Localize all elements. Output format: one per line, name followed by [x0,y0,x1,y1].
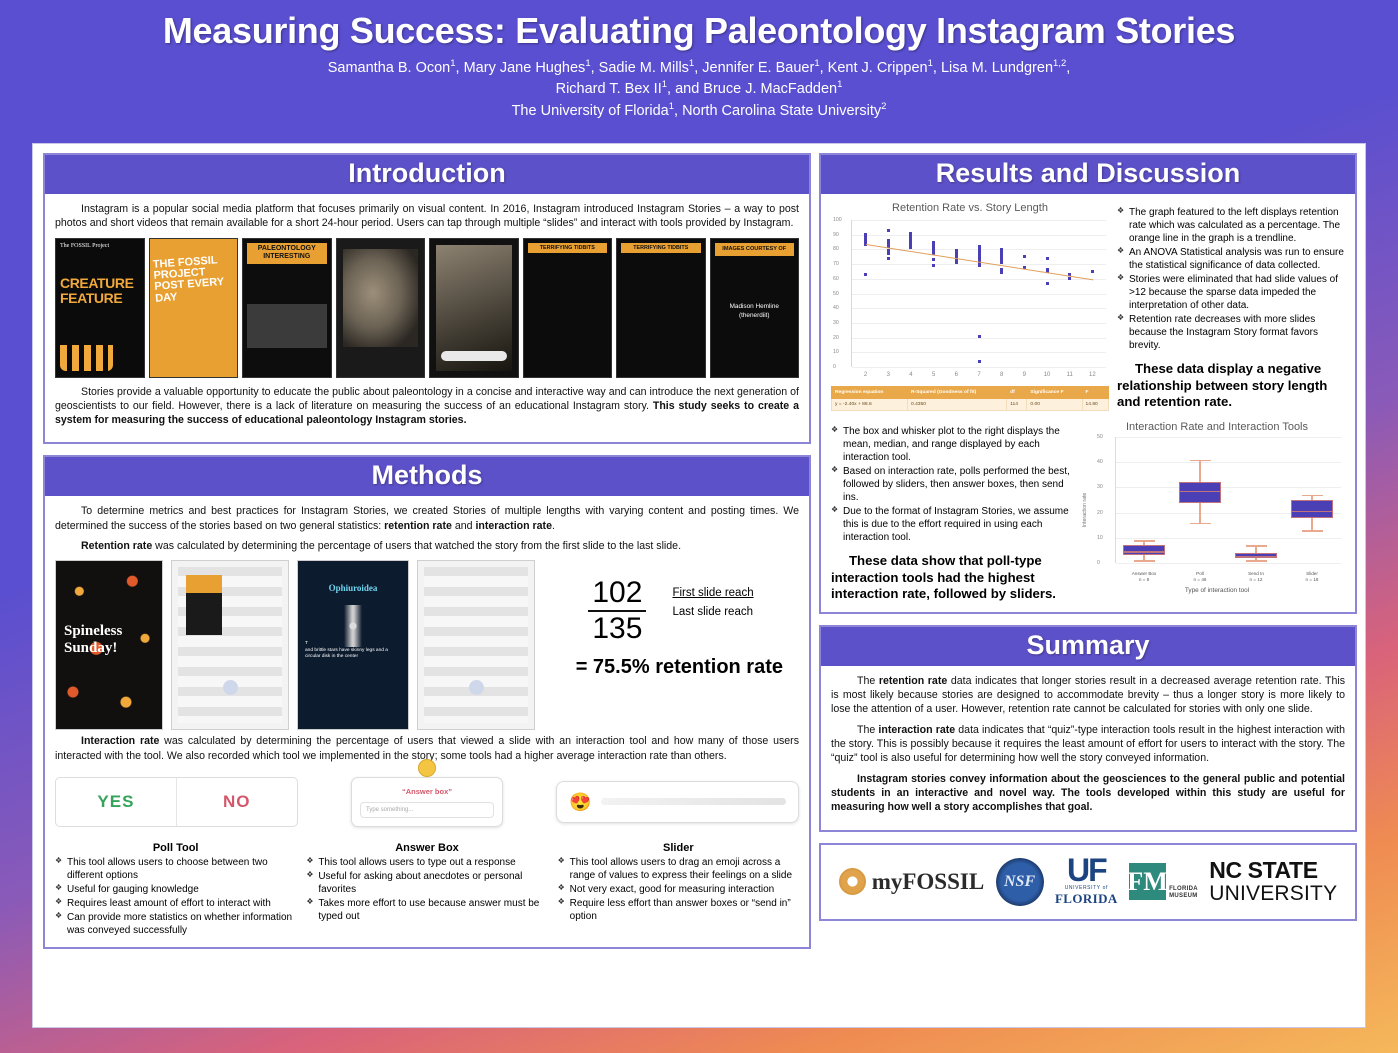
answer-box-bullets: This tool allows users to type out a res… [306,856,547,923]
introduction-panel: Introduction Instagram is a popular soci… [43,153,811,444]
whisker-cap-lower [1190,523,1211,524]
x-axis-tick: 5 [932,372,935,378]
list-item: Useful for gauging knowledge [55,883,296,896]
x-axis-tick: 10 [1044,372,1051,378]
slider-column: Slider This tool allows users to drag an… [558,842,799,938]
insights-screenshot-1 [171,560,289,730]
myfossil-logo: myFOSSIL [839,868,984,895]
list-item: Not very exact, good for measuring inter… [558,883,799,896]
nsf-seal-icon: NSF [996,858,1044,906]
story-card-image-credit: IMAGES COURTESY OF Madison Hemline (then… [710,238,800,378]
box-rect [1235,553,1277,558]
card-header-banner: PALEONTOLOGY INTERESTING [247,243,327,265]
x-axis-tick: 3 [887,372,890,378]
poll-tool-title: Poll Tool [55,842,296,854]
slider-widget[interactable]: 😍 [556,781,799,823]
scatter-point [978,264,981,267]
methods-p1-retention: retention rate [384,520,452,532]
page-title: Measuring Success: Evaluating Paleontolo… [0,10,1398,52]
list-item: Can provide more statistics on whether i… [55,911,296,937]
summary-p1-bold: retention rate [879,675,947,687]
boxplot-category-label: Send Inn = 12 [1248,571,1264,583]
anova-table-row: y = -2.40x + 88.60.43501140.0014.80 [832,399,1109,411]
summary-panel: Summary The retention rate data indicate… [819,625,1357,832]
summary-paragraph-2: The interaction rate data indicates that… [831,723,1345,766]
spineless-sunday-text: SpinelessSunday! [64,623,122,657]
y-axis-tick: 40 [1097,459,1103,465]
list-item: The graph featured to the left displays … [1117,206,1345,245]
anova-header-cell: F [1082,387,1108,399]
anova-table: Regression equationR-Squared (Goodness o… [831,386,1109,411]
gridline [1116,563,1341,564]
scatter-point [864,273,867,276]
boxplot-box: Polln = 46 [1179,437,1221,563]
gridline [852,338,1106,339]
scatter-point [887,229,890,232]
scatter-point [887,257,890,260]
boxplot-chart: Interaction rate 01020304050Answer Boxn … [1089,435,1345,585]
creature-line-2: FEATURE [60,291,140,306]
whisker-cap-upper [1302,495,1323,496]
slider-bullets: This tool allows users to drag an emoji … [558,856,799,923]
boxplot-box: Answer Boxn = 8 [1123,437,1165,563]
drip-decoration [60,345,113,371]
answer-box-title: Answer Box [306,842,547,854]
boxplot-chart-container: Interaction Rate and Interaction Tools I… [1089,421,1345,603]
animal-photo [343,249,419,347]
list-item: Useful for asking about anecdotes or per… [306,870,547,896]
results-bottom-row: The box and whisker plot to the right di… [831,421,1345,603]
whisker-cap-lower [1302,530,1323,531]
florida-museum-mark-icon: FM [1129,863,1166,900]
x-axis-tick: 11 [1067,372,1073,378]
boxplot-chart-title: Interaction Rate and Interaction Tools [1089,421,1345,433]
anova-cell: y = -2.40x + 88.6 [832,399,908,411]
methods-panel: Methods To determine metrics and best pr… [43,455,811,948]
anova-header-cell: R-Squared (Goodness of fit) [908,387,1007,399]
poll-tool-demo: YES NO [55,771,298,833]
courtesy-banner: IMAGES COURTESY OF [715,243,795,256]
right-column: Results and Discussion Retention Rate vs… [819,153,1357,921]
gridline [852,367,1106,368]
list-item: An ANOVA Statistical analysis was run to… [1117,246,1345,272]
scatter-point [932,258,935,261]
poll-option-yes[interactable]: YES [56,778,177,826]
profile-avatar-icon [418,759,436,777]
y-axis-tick: 30 [1097,484,1103,490]
credit-name: Madison Hemline [715,302,795,312]
scatter-point [1000,271,1003,274]
poll-widget[interactable]: YES NO [55,777,298,827]
summary-paragraph-3: Instagram stories convey information abo… [831,772,1345,815]
gridline [852,235,1106,236]
whisker-cap-upper [1190,460,1211,461]
credit-handle: (thenerdiit) [715,311,795,321]
ncstate-line-2: UNIVERSITY [1209,883,1337,904]
credit-block: Madison Hemline (thenerdiit) [715,302,795,321]
uf-florida-text: FLORIDA [1055,891,1118,907]
summary-body: The retention rate data indicates that l… [821,666,1355,830]
first-slide-reach-label: First slide reach [672,584,753,603]
instagram-story-examples: The FOSSIL Project CREATURE FEATURE THE … [55,238,799,378]
scatter-point [909,246,912,249]
anova-cell: 14.80 [1082,399,1108,411]
scatter-point [1023,255,1026,258]
boxplot-category-label: Polln = 46 [1194,571,1207,583]
methods-p1-e: . [552,520,555,532]
box-rect [1291,500,1333,518]
fm-line-1: FLORIDA [1169,886,1198,893]
myfossil-ammonite-icon [839,868,866,895]
story-card-orange-text: THE FOSSIL PROJECT POST EVERY DAY [149,238,239,378]
introduction-heading: Introduction [45,155,809,194]
x-axis-tick: 9 [1023,372,1026,378]
anova-table-header-row: Regression equationR-Squared (Goodness o… [832,387,1109,399]
y-axis-tick: 50 [833,291,839,297]
results-panel: Results and Discussion Retention Rate vs… [819,153,1357,614]
summary-heading: Summary [821,627,1355,666]
fraction-numerator: 102 [588,576,646,612]
y-axis-tick: 70 [833,261,839,267]
anova-header-cell: Significance F [1027,387,1082,399]
methods-heading: Methods [45,457,809,496]
story-thumbnail-band [186,575,222,593]
list-item: This tool allows users to choose between… [55,856,296,882]
insights-rows-2 [424,567,528,723]
summary-p1-a: The [857,675,879,687]
story-card-terrifying-tidbits-2: TERRIFYING TIDBITS [616,238,706,378]
tidbits-header-2: TERRIFYING TIDBITS [621,243,701,254]
y-axis-tick: 10 [833,349,839,355]
poster-board: Introduction Instagram is a popular soci… [32,143,1366,1028]
results-bottom-bullets: The box and whisker plot to the right di… [831,425,1081,544]
y-axis-tick: 30 [833,320,839,326]
list-item: Requires least amount of effort to inter… [55,897,296,910]
list-item: Based on interaction rate, polls perform… [831,465,1081,504]
sponsor-logo-bar: myFOSSIL NSF UF UNIVERSITY of FLORIDA FM… [819,843,1357,921]
y-axis-tick: 10 [1097,535,1103,541]
authors-line-1: Samantha B. Ocon1, Mary Jane Hughes1, Sa… [0,57,1398,78]
florida-museum-wordmark: FLORIDA MUSEUM [1169,886,1198,900]
gridline [852,308,1106,309]
heart-eyes-emoji-icon: 😍 [569,793,591,811]
results-top-bullets: The graph featured to the left displays … [1117,206,1345,352]
anova-cell: 0.00 [1027,399,1082,411]
y-axis-tick: 90 [833,232,839,238]
brittle-star-illustration [308,605,398,647]
card-photo-placeholder [247,304,327,348]
answer-box-question: “Answer box” [360,787,494,796]
median-line [1124,551,1164,552]
y-axis-tick: 40 [833,305,839,311]
box-rect [1123,545,1165,555]
boxplot-box: Send Inn = 12 [1235,437,1277,563]
creature-line-1: CREATURE [60,276,140,291]
scatter-point [932,264,935,267]
author-list: Samantha B. Ocon1, Mary Jane Hughes1, Sa… [0,57,1398,121]
results-top-takeaway: These data display a negative relationsh… [1117,361,1345,411]
x-axis-tick: 6 [955,372,958,378]
scatter-plot-area: 010203040506070809010023456789101112 [851,220,1106,367]
retention-rate-definition: was calculated by determining the percen… [152,540,681,552]
slider-track[interactable] [601,798,786,805]
y-axis-tick: 0 [833,364,836,370]
list-item: This tool allows users to drag an emoji … [558,856,799,882]
scatter-point [1068,277,1071,280]
story-screenshot-ophiuroidea: Ophiuroidea This is why starfish have ve… [297,560,409,730]
list-item: Takes more effort to use because answer … [306,897,547,923]
poll-tool-bullets: This tool allows users to choose between… [55,856,296,937]
scatter-point [1046,282,1049,285]
scatter-point [887,252,890,255]
last-slide-reach-label: Last slide reach [672,603,753,622]
ncstate-logo: NC STATE UNIVERSITY [1209,859,1337,904]
tidbits-header-1: TERRIFYING TIDBITS [528,243,608,254]
list-item: The box and whisker plot to the right di… [831,425,1081,464]
results-body: Retention Rate vs. Story Length 01020304… [821,194,1355,612]
scatter-point [1046,257,1049,260]
boxplot-category-label: Answer Boxn = 8 [1132,571,1157,583]
slider-tool-demo: 😍 [556,771,799,833]
anova-cell: 0.4350 [908,399,1007,411]
y-axis-tick: 20 [1097,510,1103,516]
list-item: Due to the format of Instagram Stories, … [831,505,1081,544]
uf-logo: UF UNIVERSITY of FLORIDA [1055,856,1118,906]
whisker-lower [1311,518,1312,531]
anova-header-cell: df [1007,387,1027,399]
answer-box-widget[interactable]: “Answer box” Type something... [351,777,503,827]
whisker-lower [1199,503,1200,523]
interaction-rate-term: Interaction rate [81,735,159,747]
results-bottom-takeaway: These data show that poll-type interacti… [831,553,1081,603]
intro-paragraph-1: Instagram is a popular social media plat… [55,202,799,231]
methods-p1-c: and [452,520,476,532]
orange-card-text: THE FOSSIL PROJECT POST EVERY DAY [152,254,234,304]
y-axis-tick: 20 [833,335,839,341]
results-bottom-bullets-container: The box and whisker plot to the right di… [831,421,1081,603]
affiliations: The University of Florida1, North Caroli… [0,100,1398,121]
methods-paragraph-1: To determine metrics and best practices … [55,504,799,533]
median-line [1236,556,1276,557]
boxplot-category-label: Slidern = 18 [1306,571,1319,583]
x-axis-tick: 2 [864,372,867,378]
authors-line-2: Richard T. Bex II1, and Bruce J. MacFadd… [0,78,1398,99]
anova-cell: 114 [1007,399,1027,411]
fm-line-2: MUSEUM [1169,893,1198,900]
whisker-cap-lower [1134,560,1155,561]
scatter-chart-title: Retention Rate vs. Story Length [831,202,1109,214]
list-item: Require less effort than answer boxes or… [558,897,799,923]
scatter-point [978,360,981,363]
story-card-terrifying-tidbits-1: TERRIFYING TIDBITS [523,238,613,378]
summary-paragraph-1: The retention rate data indicates that l… [831,674,1345,717]
boxplot-box: Slidern = 18 [1291,437,1333,563]
y-axis-tick: 80 [833,246,839,252]
y-axis-tick: 60 [833,276,839,282]
scatter-point [1091,270,1094,273]
x-axis-tick: 7 [977,372,980,378]
x-axis-tick: 4 [909,372,912,378]
list-item: Stories were eliminated that had slide v… [1117,273,1345,312]
story-card-animal-poll [429,238,519,378]
scatter-point [955,261,958,264]
whisker-cap-lower [1246,560,1267,561]
fraction-denominator: 135 [588,612,646,646]
nsf-logo: NSF [996,858,1044,906]
y-axis-tick: 100 [833,217,842,223]
fossil-project-brand: The FOSSIL Project [60,243,140,251]
gridline [852,352,1106,353]
poll-option-no[interactable]: NO [177,778,297,826]
scatter-point [1000,261,1003,264]
retention-calculation-row: SpinelessSunday! Ophiuroidea This is why… [55,560,799,730]
poster-header: Measuring Success: Evaluating Paleontolo… [0,0,1398,125]
fraction-labels: First slide reach Last slide reach [672,560,753,645]
gridline [852,220,1106,221]
boxplot-plot-area: 01020304050Answer Boxn = 8Polln = 46Send… [1115,437,1341,563]
interaction-tool-demos: YES NO “Answer box” Type something... [55,771,799,833]
answer-box-input[interactable]: Type something... [360,802,494,818]
tool-description-columns: Poll Tool This tool allows users to choo… [55,839,799,938]
y-axis-tick: 0 [1097,560,1100,566]
retention-fraction: 102 135 [588,560,646,645]
median-line [1180,491,1220,492]
results-heading: Results and Discussion [821,155,1355,194]
introduction-body: Instagram is a popular social media plat… [45,194,809,442]
ncstate-line-1: NC STATE [1209,859,1337,882]
poll-widget-overlay [441,351,508,361]
florida-museum-logo: FM FLORIDA MUSEUM [1129,863,1198,900]
box-rect [1179,482,1221,502]
gridline [852,294,1106,295]
whisker-upper [1199,460,1200,483]
story-card-creature-feature: The FOSSIL Project CREATURE FEATURE [55,238,145,378]
slider-title: Slider [558,842,799,854]
summary-p2-a: The [857,724,878,736]
retention-result: = 75.5% retention rate [543,646,799,681]
ophiuroidea-caption: Ophiuroidea [298,561,408,593]
scatter-chart: 010203040506070809010023456789101112 [831,216,1109,381]
methods-p1-interaction: interaction rate [475,520,552,532]
whisker-cap-upper [1134,540,1155,541]
answer-box-column: Answer Box This tool allows users to typ… [306,842,547,938]
boxplot-xlabel: Type of interaction tool [1089,587,1345,594]
list-item: This tool allows users to type out a res… [306,856,547,869]
scatter-chart-container: Retention Rate vs. Story Length 01020304… [831,202,1109,411]
x-axis-tick: 12 [1089,372,1096,378]
story-card-animal-photo [336,238,426,378]
median-line [1292,511,1332,512]
intro-paragraph-2: Stories provide a valuable opportunity t… [55,385,799,428]
x-axis-tick: 8 [1000,372,1003,378]
summary-p3-bold: Instagram stories convey information abo… [831,773,1345,814]
myfossil-wordmark: myFOSSIL [872,869,984,895]
gridline [852,323,1106,324]
scatter-point [978,335,981,338]
answer-box-demo: “Answer box” Type something... [306,771,549,833]
anova-header-cell: Regression equation [832,387,908,399]
poll-tool-column: Poll Tool This tool allows users to choo… [55,842,296,938]
list-item: Retention rate decreases with more slide… [1117,313,1345,352]
story-card-header-photo: PALEONTOLOGY INTERESTING [242,238,332,378]
uf-monogram: UF [1055,856,1118,884]
boxplot-ylabel: Interaction rate [1082,493,1088,528]
insights-screenshot-2 [417,560,535,730]
methods-body: To determine metrics and best practices … [45,496,809,946]
results-top-bullets-container: The graph featured to the left displays … [1117,202,1345,411]
y-axis-tick: 50 [1097,434,1103,440]
whisker-cap-upper [1246,545,1267,546]
story-screenshot-spineless: SpinelessSunday! [55,560,163,730]
interaction-rate-definition: was calculated by determining the percen… [55,735,799,761]
retention-definition: Retention rate was calculated by determi… [55,539,799,553]
left-column: Introduction Instagram is a popular soci… [43,153,811,960]
results-top-row: Retention Rate vs. Story Length 01020304… [831,202,1345,411]
retention-rate-term: Retention rate [81,540,152,552]
summary-p2-bold: interaction rate [878,724,955,736]
